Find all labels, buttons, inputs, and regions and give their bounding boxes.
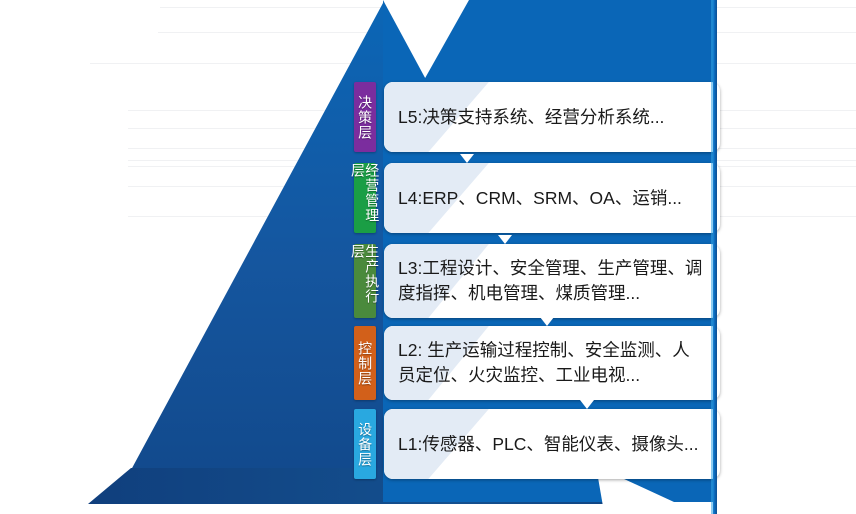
panel-right-edge xyxy=(713,0,717,514)
down-arrow-icon-2 xyxy=(498,235,512,244)
layer-row-l3[interactable]: 生产执行层 L3:工程设计、安全管理、生产管理、调度指挥、机电管理、煤质管理..… xyxy=(354,244,720,318)
layer-row-l2[interactable]: 控制层 L2: 生产运输过程控制、安全监测、人员定位、火灾监控、工业电视... xyxy=(354,326,720,400)
layer-rows: 决策层 L5:决策支持系统、经营分析系统... 经营管理层 L4:ERP、CRM… xyxy=(0,0,856,514)
layer-card-l4[interactable]: L4:ERP、CRM、SRM、OA、运销... xyxy=(384,163,720,233)
layer-tab-label-l5: 决策层 xyxy=(358,95,372,140)
layer-tab-l4[interactable]: 经营管理层 xyxy=(354,163,376,233)
layer-card-l5[interactable]: L5:决策支持系统、经营分析系统... xyxy=(384,82,720,152)
layer-card-l2[interactable]: L2: 生产运输过程控制、安全监测、人员定位、火灾监控、工业电视... xyxy=(384,326,720,400)
diagram-canvas: 决策层 L5:决策支持系统、经营分析系统... 经营管理层 L4:ERP、CRM… xyxy=(0,0,856,514)
layer-tab-label-l3: 生产执行层 xyxy=(351,244,380,318)
layer-text-l2: L2: 生产运输过程控制、安全监测、人员定位、火灾监控、工业电视... xyxy=(384,338,720,388)
down-arrow-icon-1 xyxy=(460,154,474,163)
layer-tab-label-l4: 经营管理层 xyxy=(351,163,380,233)
layer-text-l1: L1:传感器、PLC、智能仪表、摄像头... xyxy=(384,432,712,457)
layer-row-l5[interactable]: 决策层 L5:决策支持系统、经营分析系统... xyxy=(354,82,720,152)
layer-tab-l1[interactable]: 设备层 xyxy=(354,409,376,479)
layer-tab-l2[interactable]: 控制层 xyxy=(354,326,376,400)
layer-tab-l3[interactable]: 生产执行层 xyxy=(354,244,376,318)
layer-card-l3[interactable]: L3:工程设计、安全管理、生产管理、调度指挥、机电管理、煤质管理... xyxy=(384,244,720,318)
layer-text-l5: L5:决策支持系统、经营分析系统... xyxy=(384,105,678,130)
layer-text-l4: L4:ERP、CRM、SRM、OA、运销... xyxy=(384,186,696,211)
layer-tab-label-l1: 设备层 xyxy=(358,422,372,467)
layer-row-l1[interactable]: 设备层 L1:传感器、PLC、智能仪表、摄像头... xyxy=(354,409,720,479)
layer-row-l4[interactable]: 经营管理层 L4:ERP、CRM、SRM、OA、运销... xyxy=(354,163,720,233)
down-arrow-icon-3 xyxy=(540,317,554,326)
layer-text-l3: L3:工程设计、安全管理、生产管理、调度指挥、机电管理、煤质管理... xyxy=(384,256,720,306)
down-arrow-icon-4 xyxy=(580,400,594,409)
layer-tab-l5[interactable]: 决策层 xyxy=(354,82,376,152)
layer-card-l1[interactable]: L1:传感器、PLC、智能仪表、摄像头... xyxy=(384,409,720,479)
layer-tab-label-l2: 控制层 xyxy=(358,341,372,386)
